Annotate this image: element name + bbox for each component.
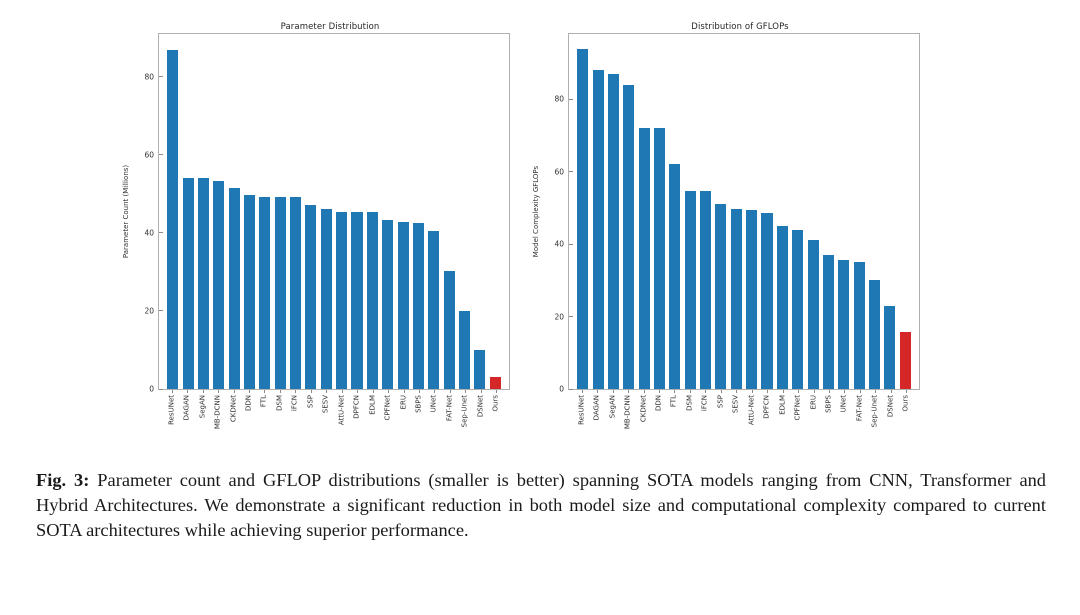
y-axis-tick-label: 20 — [144, 306, 159, 315]
bar-slot — [821, 34, 836, 389]
x-axis-tick-label: DSM — [276, 395, 283, 411]
tick-mark — [311, 390, 312, 393]
bar — [608, 74, 619, 389]
tick-mark — [690, 390, 691, 393]
x-axis-tick: FTL — [257, 390, 272, 455]
chart-title-right: Distribution of GFLOPs — [530, 22, 950, 32]
bar — [459, 311, 470, 389]
x-axis-tick: Sep-Unet — [868, 390, 883, 455]
figure-page: Parameter Distribution Parameter Count (… — [0, 0, 1080, 615]
bar — [669, 164, 680, 389]
bar — [382, 220, 393, 389]
tick-mark — [388, 390, 389, 393]
x-axis-tick-label: DDN — [245, 395, 252, 411]
x-axis-tick-label: iFCN — [702, 395, 709, 411]
plot-area-left: 020406080 — [158, 33, 510, 390]
bar-slot — [273, 34, 288, 389]
bar-slot — [790, 34, 805, 389]
bar-slot — [380, 34, 395, 389]
x-axis-tick: SESV — [319, 390, 334, 455]
bar — [367, 212, 378, 389]
bar-slot — [652, 34, 667, 389]
x-axis-tick: SBPS — [411, 390, 426, 455]
tick-mark — [659, 390, 660, 393]
x-axis-tick-label: FAT-Net — [856, 395, 863, 421]
x-axis-tick: SESV — [729, 390, 744, 455]
y-axis-tick-label: 20 — [554, 312, 569, 321]
bar-slot — [319, 34, 334, 389]
tick-mark — [798, 390, 799, 393]
x-axis-tick: DSM — [682, 390, 697, 455]
bar — [259, 197, 270, 389]
tick-mark — [628, 390, 629, 393]
bar-slot — [288, 34, 303, 389]
x-axis-tick-label: CKDNet — [640, 395, 647, 422]
tick-mark — [613, 390, 614, 393]
tick-mark — [373, 390, 374, 393]
tick-mark — [295, 390, 296, 393]
bar-slot — [851, 34, 866, 389]
tick-mark — [644, 390, 645, 393]
bar — [229, 188, 240, 389]
bar — [444, 271, 455, 389]
bar — [183, 178, 194, 389]
bar-slot — [395, 34, 410, 389]
bar — [336, 212, 347, 389]
x-axis-tick: Sep-Unet — [458, 390, 473, 455]
bar-slot — [667, 34, 682, 389]
bar-slot — [472, 34, 487, 389]
y-axis-label-right: Model Complexity GFLOPs — [532, 33, 544, 390]
x-axis-tick: ResUNet — [164, 390, 179, 455]
y-axis-tick-label: 40 — [554, 240, 569, 249]
bar — [321, 209, 332, 389]
bar — [213, 181, 224, 389]
x-axis-tick: SegAN — [195, 390, 210, 455]
x-axis-tick: EDLM — [775, 390, 790, 455]
bar — [792, 230, 803, 389]
x-axis-tick-label: Ours — [493, 395, 500, 411]
figure-caption: Fig. 3: Parameter count and GFLOP distri… — [36, 468, 1046, 544]
x-axis-tick-label: MB-DCNN — [215, 395, 222, 429]
tick-mark — [844, 390, 845, 393]
x-axis-tick: iFCN — [698, 390, 713, 455]
bar-slot — [867, 34, 882, 389]
y-axis-label-left: Parameter Count (Millions) — [122, 33, 134, 390]
tick-mark — [752, 390, 753, 393]
bar-slot — [606, 34, 621, 389]
bar-slot — [775, 34, 790, 389]
x-axis-tick-label: SSP — [307, 395, 314, 408]
x-axis-tick-label: UNet — [841, 395, 848, 412]
bar-slot — [805, 34, 820, 389]
bar — [593, 70, 604, 389]
x-axis-tick-label: SegAN — [609, 395, 616, 418]
x-axis-tick-label: CPFNet — [795, 395, 802, 420]
x-axis-tick-label: SESV — [733, 395, 740, 413]
x-axis-tick: SSP — [303, 390, 318, 455]
bar — [305, 205, 316, 389]
bar-slot — [729, 34, 744, 389]
x-axis-tick-label: ERU — [400, 395, 407, 409]
bar — [244, 195, 255, 389]
bar — [777, 226, 788, 389]
tick-mark — [434, 390, 435, 393]
tick-mark — [829, 390, 830, 393]
tick-mark — [234, 390, 235, 393]
x-axis-tick: MB-DCNN — [620, 390, 635, 455]
x-axis-tick: DPFCN — [759, 390, 774, 455]
chart-panel-gflops-distribution: Distribution of GFLOPs Model Complexity … — [530, 0, 950, 455]
x-axis-tick-label: DPFCN — [354, 395, 361, 419]
bar — [731, 209, 742, 389]
bar-slot — [488, 34, 503, 389]
x-axis-tick-label: DAGAN — [184, 395, 191, 420]
bar — [290, 197, 301, 389]
x-axis-tick: ERU — [396, 390, 411, 455]
tick-mark — [721, 390, 722, 393]
chart-panel-parameter-distribution: Parameter Distribution Parameter Count (… — [120, 0, 540, 455]
bar — [639, 128, 650, 389]
bar-slot — [759, 34, 774, 389]
bar — [700, 191, 711, 390]
bar-slot — [303, 34, 318, 389]
tick-mark — [218, 390, 219, 393]
x-axis-tick-label: DSNet — [887, 395, 894, 417]
x-axis-tick-label: CKDNet — [230, 395, 237, 422]
x-axis-tick-label: DAGAN — [594, 395, 601, 420]
bar-group-right — [569, 34, 919, 389]
x-axis-tick-label: ResUNet — [578, 395, 585, 425]
bar-highlight-ours — [490, 377, 501, 389]
bar — [275, 197, 286, 389]
x-axis-tick: FAT-Net — [852, 390, 867, 455]
x-axis-tick: Ours — [489, 390, 504, 455]
bar-slot — [334, 34, 349, 389]
bar-slot — [211, 34, 226, 389]
tick-mark — [783, 390, 784, 393]
bar-slot — [457, 34, 472, 389]
bar — [869, 280, 880, 389]
x-axis-tick-label: SBPS — [415, 395, 422, 413]
x-axis-tick-label: Ours — [903, 395, 910, 411]
bar-slot — [411, 34, 426, 389]
x-axis-tick-label: DPFCN — [764, 395, 771, 419]
x-axis-tick: CPFNet — [380, 390, 395, 455]
bar-group-left — [159, 34, 509, 389]
tick-mark — [481, 390, 482, 393]
tick-mark — [465, 390, 466, 393]
tick-mark — [280, 390, 281, 393]
y-axis-tick-label: 40 — [144, 228, 159, 237]
x-axis-tick-label: SegAN — [199, 395, 206, 418]
x-axis-tick: Ours — [899, 390, 914, 455]
tick-mark — [203, 390, 204, 393]
tick-mark — [249, 390, 250, 393]
x-axis-tick-label: Sep-Unet — [462, 395, 469, 427]
x-axis-tick-label: ResUNet — [168, 395, 175, 425]
x-axis-tick: DSNet — [473, 390, 488, 455]
figure-caption-body: Parameter count and GFLOP distributions … — [36, 470, 1046, 540]
bar-slot — [165, 34, 180, 389]
plot-area-right: 020406080 — [568, 33, 920, 390]
bar — [823, 255, 834, 389]
x-axis-tick: CKDNet — [636, 390, 651, 455]
x-axis-tick-label: SESV — [323, 395, 330, 413]
x-axis-tick-label: FTL — [671, 395, 678, 407]
bar-slot — [426, 34, 441, 389]
bar-slot — [441, 34, 456, 389]
tick-mark — [357, 390, 358, 393]
tick-mark — [674, 390, 675, 393]
bar-slot — [713, 34, 728, 389]
bar-slot — [257, 34, 272, 389]
bar-slot — [590, 34, 605, 389]
bar — [351, 212, 362, 389]
x-axis-tick-label: iFCN — [292, 395, 299, 411]
x-axis-tick: SSP — [713, 390, 728, 455]
bar-slot — [196, 34, 211, 389]
x-axis-tick: UNet — [427, 390, 442, 455]
tick-mark — [264, 390, 265, 393]
x-axis-tick: DPFCN — [349, 390, 364, 455]
bar-slot — [180, 34, 195, 389]
bar — [623, 85, 634, 389]
bar — [808, 240, 819, 389]
y-axis-tick-label: 60 — [144, 150, 159, 159]
tick-mark — [736, 390, 737, 393]
bar-slot — [242, 34, 257, 389]
x-axis-tick: DSM — [272, 390, 287, 455]
tick-mark — [814, 390, 815, 393]
tick-mark — [172, 390, 173, 393]
x-axis-tick-label: Sep-Unet — [872, 395, 879, 427]
x-axis-tick-label: FTL — [261, 395, 268, 407]
bar — [654, 128, 665, 389]
tick-mark — [705, 390, 706, 393]
tick-mark — [597, 390, 598, 393]
bar-slot — [349, 34, 364, 389]
x-axis-tick: FTL — [667, 390, 682, 455]
bar-slot — [744, 34, 759, 389]
x-axis-tick: SegAN — [605, 390, 620, 455]
tick-mark — [342, 390, 343, 393]
x-axis-tick: AttU-Net — [744, 390, 759, 455]
x-axis-tick-label: DSM — [686, 395, 693, 411]
x-axis-tick: CKDNet — [226, 390, 241, 455]
x-axis-tick: SBPS — [821, 390, 836, 455]
x-axis-tick: MB-DCNN — [210, 390, 225, 455]
bar-slot — [836, 34, 851, 389]
tick-mark — [891, 390, 892, 393]
x-axis-tick: FAT-Net — [442, 390, 457, 455]
figure-caption-label: Fig. 3: — [36, 470, 89, 490]
x-axis-ticks-left: ResUNetDAGANSegANMB-DCNNCKDNetDDNFTLDSMi… — [158, 390, 510, 455]
x-axis-tick: CPFNet — [790, 390, 805, 455]
x-axis-tick: DAGAN — [589, 390, 604, 455]
tick-mark — [187, 390, 188, 393]
x-axis-tick: iFCN — [288, 390, 303, 455]
x-axis-tick: DAGAN — [179, 390, 194, 455]
x-axis-tick-label: EDLM — [779, 395, 786, 415]
bar-slot — [226, 34, 241, 389]
x-axis-tick-label: DSNet — [477, 395, 484, 417]
bar — [884, 306, 895, 389]
figure-plot-area: Parameter Distribution Parameter Count (… — [0, 0, 1080, 455]
tick-mark — [860, 390, 861, 393]
bar — [746, 210, 757, 389]
bar-slot — [636, 34, 651, 389]
bar — [854, 262, 865, 389]
y-axis-tick-label: 60 — [554, 167, 569, 176]
tick-mark — [419, 390, 420, 393]
tick-mark — [767, 390, 768, 393]
x-axis-tick-label: AttU-Net — [338, 395, 345, 425]
x-axis-tick-label: AttU-Net — [748, 395, 755, 425]
x-axis-tick-label: ERU — [810, 395, 817, 409]
bar-slot — [698, 34, 713, 389]
y-axis-tick-label: 80 — [554, 95, 569, 104]
x-axis-tick-label: DDN — [655, 395, 662, 411]
tick-mark — [496, 390, 497, 393]
x-axis-tick: DDN — [241, 390, 256, 455]
bar-slot — [365, 34, 380, 389]
x-axis-tick-label: CPFNet — [385, 395, 392, 420]
x-axis-tick: UNet — [837, 390, 852, 455]
bar — [167, 50, 178, 389]
bar-slot — [683, 34, 698, 389]
x-axis-tick-label: MB-DCNN — [625, 395, 632, 429]
bar-highlight-ours — [900, 332, 911, 389]
tick-mark — [450, 390, 451, 393]
bar-slot — [882, 34, 897, 389]
bar — [413, 223, 424, 389]
x-axis-tick-label: FAT-Net — [446, 395, 453, 421]
bar — [838, 260, 849, 389]
x-axis-tick: ResUNet — [574, 390, 589, 455]
bar — [198, 178, 209, 389]
x-axis-tick-label: SBPS — [825, 395, 832, 413]
x-axis-tick: EDLM — [365, 390, 380, 455]
bar — [398, 222, 409, 389]
bar-slot — [621, 34, 636, 389]
bar-slot — [575, 34, 590, 389]
tick-mark — [906, 390, 907, 393]
x-axis-tick: DSNet — [883, 390, 898, 455]
bar-slot — [898, 34, 913, 389]
x-axis-tick: ERU — [806, 390, 821, 455]
x-axis-tick: AttU-Net — [334, 390, 349, 455]
x-axis-tick-label: SSP — [717, 395, 724, 408]
bar — [685, 191, 696, 390]
bar — [428, 231, 439, 389]
tick-mark — [404, 390, 405, 393]
chart-title-left: Parameter Distribution — [120, 22, 540, 32]
x-axis-tick: DDN — [651, 390, 666, 455]
bar — [761, 213, 772, 389]
x-axis-ticks-right: ResUNetDAGANSegANMB-DCNNCKDNetDDNFTLDSMi… — [568, 390, 920, 455]
y-axis-tick-label: 80 — [144, 72, 159, 81]
tick-mark — [875, 390, 876, 393]
x-axis-tick-label: UNet — [431, 395, 438, 412]
bar — [474, 350, 485, 389]
tick-mark — [326, 390, 327, 393]
tick-mark — [582, 390, 583, 393]
bar — [715, 204, 726, 389]
bar — [577, 49, 588, 390]
x-axis-tick-label: EDLM — [369, 395, 376, 415]
